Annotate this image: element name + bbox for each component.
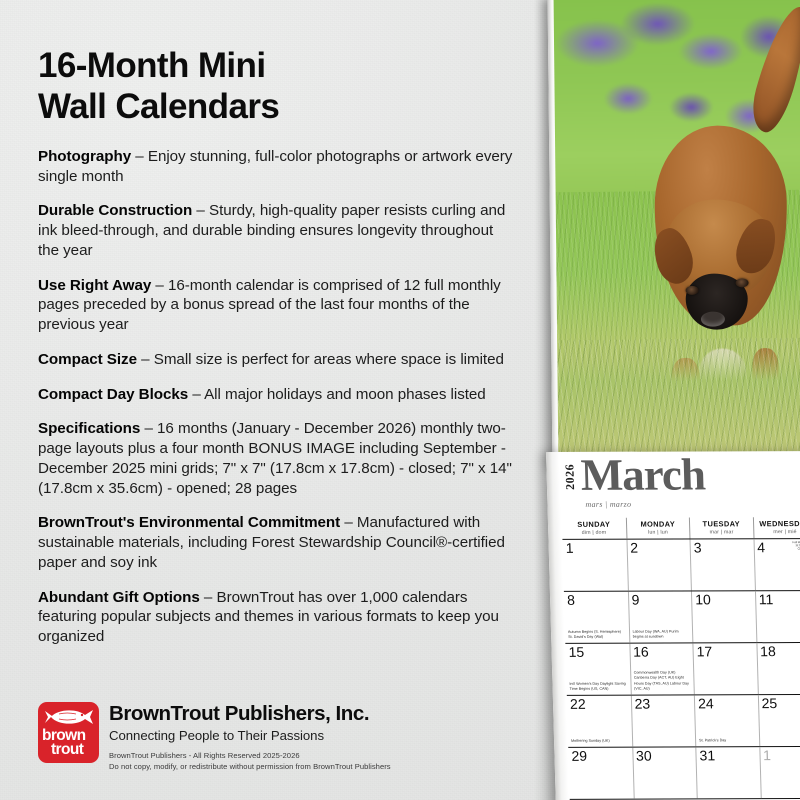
moon-glyph: ○ [790, 548, 800, 553]
calendar-day-cell: 9 Labour Day (WA, AU) Purim begins at su… [627, 591, 692, 642]
day-number: 8 [567, 592, 575, 606]
feature-label: Durable Construction [38, 202, 192, 219]
calendar-day-cell: 18 [756, 642, 800, 693]
logo-word-trout: trout [42, 743, 99, 757]
marketing-copy-column: 16-Month Mini Wall Calendars Photography… [38, 46, 518, 662]
calendar-year: 2026 [562, 464, 578, 490]
calendar-day-cell: 23 [630, 695, 695, 746]
logo-wordmark: brown trout [38, 729, 99, 758]
calendar-week-row: 8 Autumn Begins (S. Hemisphere) St. Davi… [564, 591, 800, 644]
feature-label: Abundant Gift Options [38, 589, 200, 606]
feature-label: Specifications [38, 420, 140, 437]
calendar-month-alt: mars | marzo [585, 500, 631, 509]
day-header-wednesday: WEDNESDAY mer | mié [752, 517, 800, 538]
day-number: 9 [631, 592, 639, 606]
feature-dash: – [151, 277, 168, 294]
feature-dash: – [137, 351, 154, 368]
calendar-photo-page [548, 0, 800, 467]
feature-label: Photography [38, 148, 131, 165]
day-header-alt: mer | mié [754, 529, 800, 535]
day-of-week-header-row: SUNDAY dim | dom MONDAY lun | lun TUESDA… [562, 517, 800, 539]
day-events: Autumn Begins (S. Hemisphere) St. David'… [568, 629, 627, 640]
day-number: 22 [570, 696, 586, 710]
calendar-month-name: March [580, 452, 705, 497]
feature-item-durable-construction: Durable Construction – Sturdy, high-qual… [38, 201, 518, 260]
day-header-name: MONDAY [626, 519, 689, 528]
browntrout-logo: brown trout [38, 702, 99, 763]
feature-item-abundant-gift-options: Abundant Gift Options – BrownTrout has o… [38, 588, 518, 647]
calendar-day-cell: 11 [754, 591, 800, 642]
calendar-day-cell: 10 [691, 591, 756, 642]
feature-item-use-right-away: Use Right Away – 16-month calendar is co… [38, 276, 518, 335]
legal-line-2: Do not copy, modify, or redistribute wit… [109, 761, 391, 772]
day-number: 30 [636, 748, 652, 762]
day-number: 15 [568, 644, 584, 658]
feature-label: Use Right Away [38, 277, 151, 294]
calendar-day-cell: 1 [562, 539, 627, 590]
calendar-day-cell: 31 [695, 747, 760, 798]
feature-text: All major holidays and moon phases liste… [204, 386, 486, 403]
feature-label: BrownTrout's Environmental Commitment [38, 514, 340, 531]
calendar-day-cell: 17 [692, 643, 757, 694]
calendar-day-cell: 1 [759, 746, 800, 797]
day-number: 2 [630, 540, 638, 554]
calendar-day-cell: 24 St. Patrick's Day [694, 695, 759, 746]
calendar-week-row: 22 Mothering Sunday (UK) 23 24 St. Patri… [567, 694, 800, 747]
feature-list: Photography – Enjoy stunning, full-color… [38, 147, 518, 647]
feature-item-environmental-commitment: BrownTrout's Environmental Commitment – … [38, 513, 518, 572]
publisher-tagline: Connecting People to Their Passions [109, 728, 391, 743]
grass-foreground [555, 338, 800, 461]
calendar-week-row: 29 30 31 1 [568, 746, 800, 799]
product-info-page: 16-Month Mini Wall Calendars Photography… [0, 0, 800, 800]
day-number: 10 [695, 592, 711, 606]
boxer-puppy-photo [552, 0, 800, 461]
day-number: 3 [694, 540, 702, 554]
calendar-day-cell: 30 [632, 747, 697, 798]
day-number: 24 [698, 696, 714, 710]
feature-dash: – [188, 386, 204, 403]
day-number: 23 [634, 696, 650, 710]
legal-line-1: BrownTrout Publishers - All Rights Reser… [109, 750, 391, 761]
brand-footer: brown trout BrownTrout Publishers, Inc. … [38, 702, 508, 772]
day-number: 1 [763, 748, 771, 762]
day-header-tuesday: TUESDAY mar | mar [689, 517, 753, 538]
headline-line-2: Wall Calendars [38, 87, 518, 128]
day-number: 16 [633, 644, 649, 658]
day-header-name: WEDNESDAY [753, 519, 800, 528]
calendar-day-cell: 22 Mothering Sunday (UK) [567, 695, 632, 746]
brand-text-block: BrownTrout Publishers, Inc. Connecting P… [109, 702, 391, 772]
calendar-day-cell: 8 Autumn Begins (S. Hemisphere) St. Davi… [564, 591, 629, 642]
feature-label: Compact Size [38, 351, 137, 368]
calendar-day-cell: 29 [568, 747, 633, 798]
calendar-header: 2026 March mars | marzo [560, 457, 800, 512]
day-number: 25 [761, 696, 777, 710]
calendar-day-cell: 3 [689, 539, 754, 590]
day-number: 17 [696, 644, 712, 658]
day-header-alt: mar | mar [690, 529, 753, 535]
day-events: Labour Day (WA, AU) Purim begins at sund… [632, 629, 690, 640]
headline-line-1: 16-Month Mini [38, 46, 265, 85]
day-events: Commonwealth Day (UK) Canberra Day (ACT,… [634, 670, 692, 692]
publisher-name: BrownTrout Publishers, Inc. [109, 703, 391, 725]
feature-text: Small size is perfect for areas where sp… [154, 351, 504, 368]
feature-dash: – [192, 202, 209, 219]
calendar-day-cell: 2 [626, 539, 691, 590]
day-number: 18 [760, 644, 776, 658]
feature-item-compact-day-blocks: Compact Day Blocks – All major holidays … [38, 385, 518, 405]
calendar-week-row: 1 2 3 Full Moon 11 [562, 539, 800, 592]
moon-phase-icon: Full Moon 11:38 ○ [790, 541, 800, 553]
calendar-weeks: 1 2 3 Full Moon 11 [562, 539, 800, 800]
feature-dash: – [140, 420, 157, 437]
day-events: Int'l Women's Day Daylight Saving Time B… [569, 681, 628, 692]
day-header-alt: lun | lun [627, 529, 690, 535]
feature-dash: – [340, 514, 357, 531]
feature-item-compact-size: Compact Size – Small size is perfect for… [38, 350, 518, 370]
day-header-monday: MONDAY lun | lun [625, 517, 689, 538]
day-number: 1 [565, 540, 573, 554]
puppy-nose [701, 311, 725, 326]
day-number: 29 [571, 748, 587, 762]
day-number: 31 [699, 748, 715, 762]
page-title: 16-Month Mini Wall Calendars [38, 46, 518, 128]
day-header-alt: dim | dom [562, 529, 626, 535]
day-events: Mothering Sunday (UK) [571, 739, 630, 745]
feature-dash: – [131, 148, 148, 165]
feature-label: Compact Day Blocks [38, 386, 188, 403]
day-header-name: SUNDAY [562, 520, 626, 529]
legal-notice: BrownTrout Publishers - All Rights Reser… [109, 750, 391, 772]
calendar-product-photo: 2026 March mars | marzo SUNDAY dim | dom… [520, 0, 800, 800]
trout-fish-icon [43, 706, 95, 728]
day-number: 4 [757, 540, 765, 554]
calendar-day-cell: 16 Commonwealth Day (UK) Canberra Day (A… [629, 643, 694, 694]
calendar-week-row: 15 Int'l Women's Day Daylight Saving Tim… [565, 642, 800, 695]
feature-dash: – [200, 589, 217, 606]
calendar-day-cell: 25 [757, 694, 800, 745]
calendar-day-cell: 15 Int'l Women's Day Daylight Saving Tim… [565, 643, 630, 694]
feature-item-specifications: Specifications – 16 months (January - De… [38, 419, 518, 498]
calendar-grid-page: 2026 March mars | marzo SUNDAY dim | dom… [546, 451, 800, 800]
day-header-sunday: SUNDAY dim | dom [562, 518, 626, 539]
day-number: 11 [758, 592, 773, 606]
day-header-name: TUESDAY [690, 519, 753, 528]
feature-item-photography: Photography – Enjoy stunning, full-color… [38, 147, 518, 187]
day-events: St. Patrick's Day [699, 738, 757, 744]
calendar-day-cell: Full Moon 11:38 ○ 4 [753, 539, 800, 590]
